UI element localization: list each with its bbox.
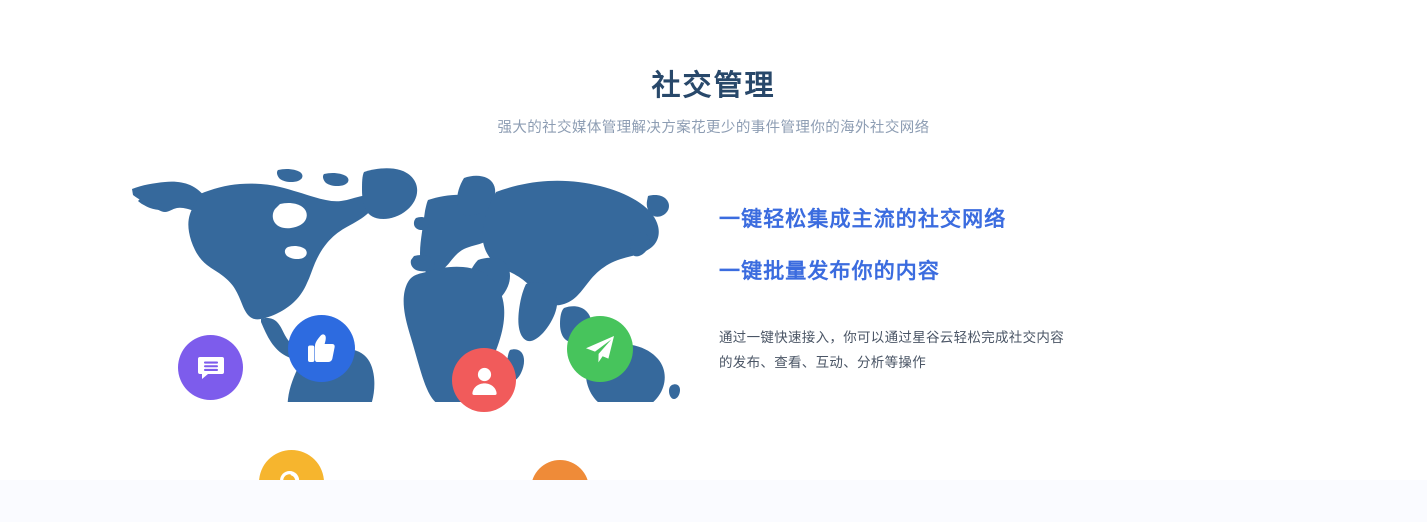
bottom-band xyxy=(0,480,1427,522)
headline-secondary: 一键批量发布你的内容 xyxy=(719,259,1119,285)
hero-paragraph: 通过一键快速接入，你可以通过星谷云轻松完成社交内容的发布、查看、互动、分析等操作 xyxy=(719,325,1067,375)
chat-icon[interactable] xyxy=(178,335,243,400)
headline-primary: 一键轻松集成主流的社交网络 xyxy=(719,207,1119,233)
social-management-page: 社交管理 强大的社交媒体管理解决方案花更少的事件管理你的海外社交网络 xyxy=(0,0,1427,522)
hero-copy: 一键轻松集成主流的社交网络 一键批量发布你的内容 通过一键快速接入，你可以通过星… xyxy=(719,207,1119,375)
send-icon[interactable] xyxy=(567,316,633,382)
page-subtitle: 强大的社交媒体管理解决方案花更少的事件管理你的海外社交网络 xyxy=(0,118,1427,138)
hero-section: 一键轻松集成主流的社交网络 一键批量发布你的内容 通过一键快速接入，你可以通过星… xyxy=(0,152,1427,412)
page-header: 社交管理 强大的社交媒体管理解决方案花更少的事件管理你的海外社交网络 xyxy=(0,0,1427,138)
like-icon[interactable] xyxy=(288,315,355,382)
page-title: 社交管理 xyxy=(0,68,1427,104)
user-icon[interactable] xyxy=(452,348,516,412)
